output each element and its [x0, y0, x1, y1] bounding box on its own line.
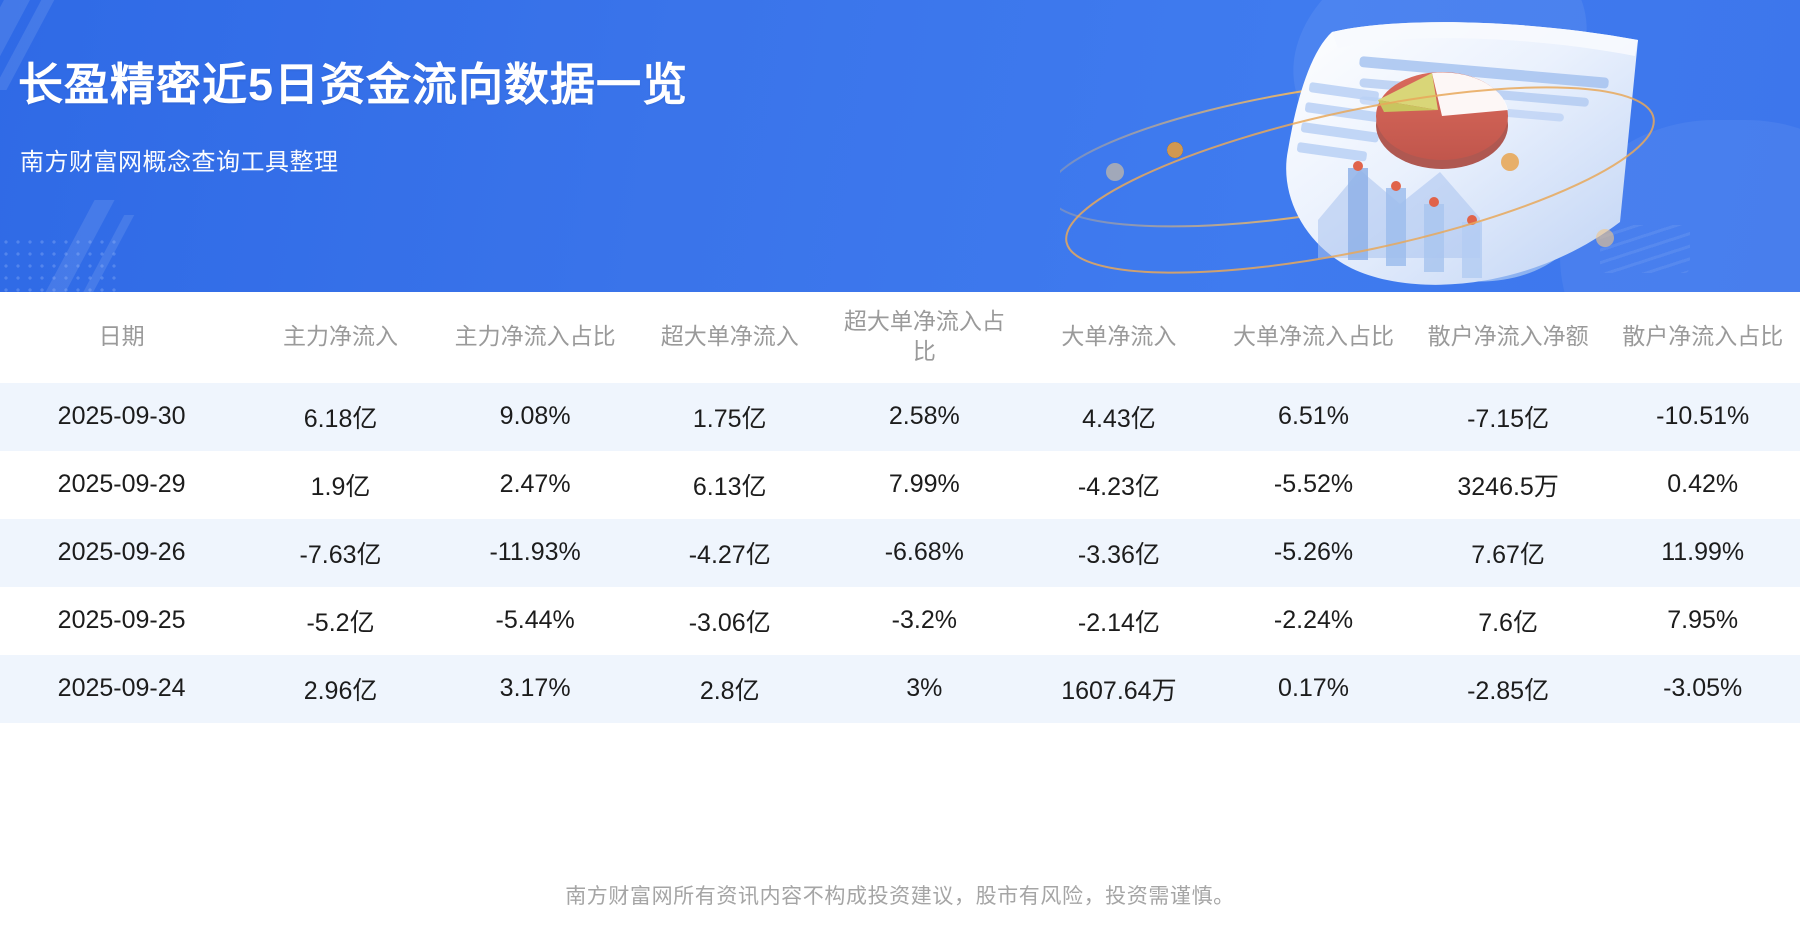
cell-date: 2025-09-29: [0, 451, 243, 519]
cell-xlarge-pct: 3%: [827, 655, 1022, 723]
cell-retail-pct: -10.51%: [1605, 383, 1800, 451]
cell-large-net: -2.14亿: [1022, 587, 1217, 655]
page-title: 长盈精密近5日资金流向数据一览: [18, 48, 688, 113]
footer-disclaimer: 南方财富网所有资讯内容不构成投资建议，股市有风险，投资需谨慎。: [0, 880, 1800, 910]
cell-main-pct: 2.47%: [438, 451, 633, 519]
table-header-row: 日期 主力净流入 主力净流入占比 超大单净流入 超大单净流入占比 大单净流入 大…: [0, 292, 1800, 383]
cell-main-net: 1.9亿: [243, 451, 438, 519]
column-header-date: 日期: [0, 292, 243, 383]
cell-large-pct: 6.51%: [1216, 383, 1411, 451]
cell-xlarge-net: -3.06亿: [632, 587, 827, 655]
cell-large-pct: -5.26%: [1216, 519, 1411, 587]
cell-retail-pct: 11.99%: [1605, 519, 1800, 587]
cell-main-pct: -5.44%: [438, 587, 633, 655]
cell-date: 2025-09-30: [0, 383, 243, 451]
cell-retail-pct: -3.05%: [1605, 655, 1800, 723]
column-header-xlarge-net: 超大单净流入: [632, 292, 827, 383]
column-header-large-net: 大单净流入: [1022, 292, 1217, 383]
cell-main-net: 6.18亿: [243, 383, 438, 451]
banner-dot-pattern: [0, 236, 120, 292]
cell-date: 2025-09-24: [0, 655, 243, 723]
cell-retail-pct: 0.42%: [1605, 451, 1800, 519]
cell-retail-net: -2.85亿: [1411, 655, 1606, 723]
column-header-retail-pct: 散户净流入占比: [1605, 292, 1800, 383]
table-row: 2025-09-25 -5.2亿 -5.44% -3.06亿 -3.2% -2.…: [0, 587, 1800, 655]
table-row: 2025-09-26 -7.63亿 -11.93% -4.27亿 -6.68% …: [0, 519, 1800, 587]
cell-large-net: 4.43亿: [1022, 383, 1217, 451]
header-banner: 长盈精密近5日资金流向数据一览 南方财富网概念查询工具整理: [0, 0, 1800, 292]
cell-retail-net: -7.15亿: [1411, 383, 1606, 451]
cell-large-net: -4.23亿: [1022, 451, 1217, 519]
cell-xlarge-net: -4.27亿: [632, 519, 827, 587]
column-header-main-net: 主力净流入: [243, 292, 438, 383]
column-header-main-pct: 主力净流入占比: [438, 292, 633, 383]
cell-date: 2025-09-25: [0, 587, 243, 655]
table-body: 2025-09-30 6.18亿 9.08% 1.75亿 2.58% 4.43亿…: [0, 383, 1800, 723]
column-header-large-pct: 大单净流入占比: [1216, 292, 1411, 383]
cell-xlarge-pct: 2.58%: [827, 383, 1022, 451]
cell-main-net: 2.96亿: [243, 655, 438, 723]
cell-retail-pct: 7.95%: [1605, 587, 1800, 655]
cell-main-pct: -11.93%: [438, 519, 633, 587]
cell-large-pct: 0.17%: [1216, 655, 1411, 723]
table-row: 2025-09-29 1.9亿 2.47% 6.13亿 7.99% -4.23亿…: [0, 451, 1800, 519]
cell-large-pct: -2.24%: [1216, 587, 1411, 655]
cell-large-net: -3.36亿: [1022, 519, 1217, 587]
column-header-xlarge-pct: 超大单净流入占比: [827, 292, 1022, 383]
fund-flow-table: 日期 主力净流入 主力净流入占比 超大单净流入 超大单净流入占比 大单净流入 大…: [0, 292, 1800, 723]
cell-main-pct: 9.08%: [438, 383, 633, 451]
cell-retail-net: 7.67亿: [1411, 519, 1606, 587]
cell-large-pct: -5.52%: [1216, 451, 1411, 519]
cell-main-pct: 3.17%: [438, 655, 633, 723]
cell-retail-net: 7.6亿: [1411, 587, 1606, 655]
cell-xlarge-pct: -3.2%: [827, 587, 1022, 655]
document-chart-illustration: [1060, 0, 1680, 292]
cell-main-net: -7.63亿: [243, 519, 438, 587]
fund-flow-table-wrapper: 日期 主力净流入 主力净流入占比 超大单净流入 超大单净流入占比 大单净流入 大…: [0, 292, 1800, 723]
table-row: 2025-09-30 6.18亿 9.08% 1.75亿 2.58% 4.43亿…: [0, 383, 1800, 451]
cell-xlarge-net: 2.8亿: [632, 655, 827, 723]
cell-xlarge-net: 1.75亿: [632, 383, 827, 451]
cell-main-net: -5.2亿: [243, 587, 438, 655]
column-header-retail-net: 散户净流入净额: [1411, 292, 1606, 383]
cell-retail-net: 3246.5万: [1411, 451, 1606, 519]
cell-xlarge-pct: -6.68%: [827, 519, 1022, 587]
cell-date: 2025-09-26: [0, 519, 243, 587]
table-row: 2025-09-24 2.96亿 3.17% 2.8亿 3% 1607.64万 …: [0, 655, 1800, 723]
cell-xlarge-pct: 7.99%: [827, 451, 1022, 519]
table-header: 日期 主力净流入 主力净流入占比 超大单净流入 超大单净流入占比 大单净流入 大…: [0, 292, 1800, 383]
cell-xlarge-net: 6.13亿: [632, 451, 827, 519]
page-subtitle: 南方财富网概念查询工具整理: [20, 142, 339, 177]
cell-large-net: 1607.64万: [1022, 655, 1217, 723]
fund-flow-infographic: 长盈精密近5日资金流向数据一览 南方财富网概念查询工具整理 南方财富网 Sout…: [0, 0, 1800, 928]
